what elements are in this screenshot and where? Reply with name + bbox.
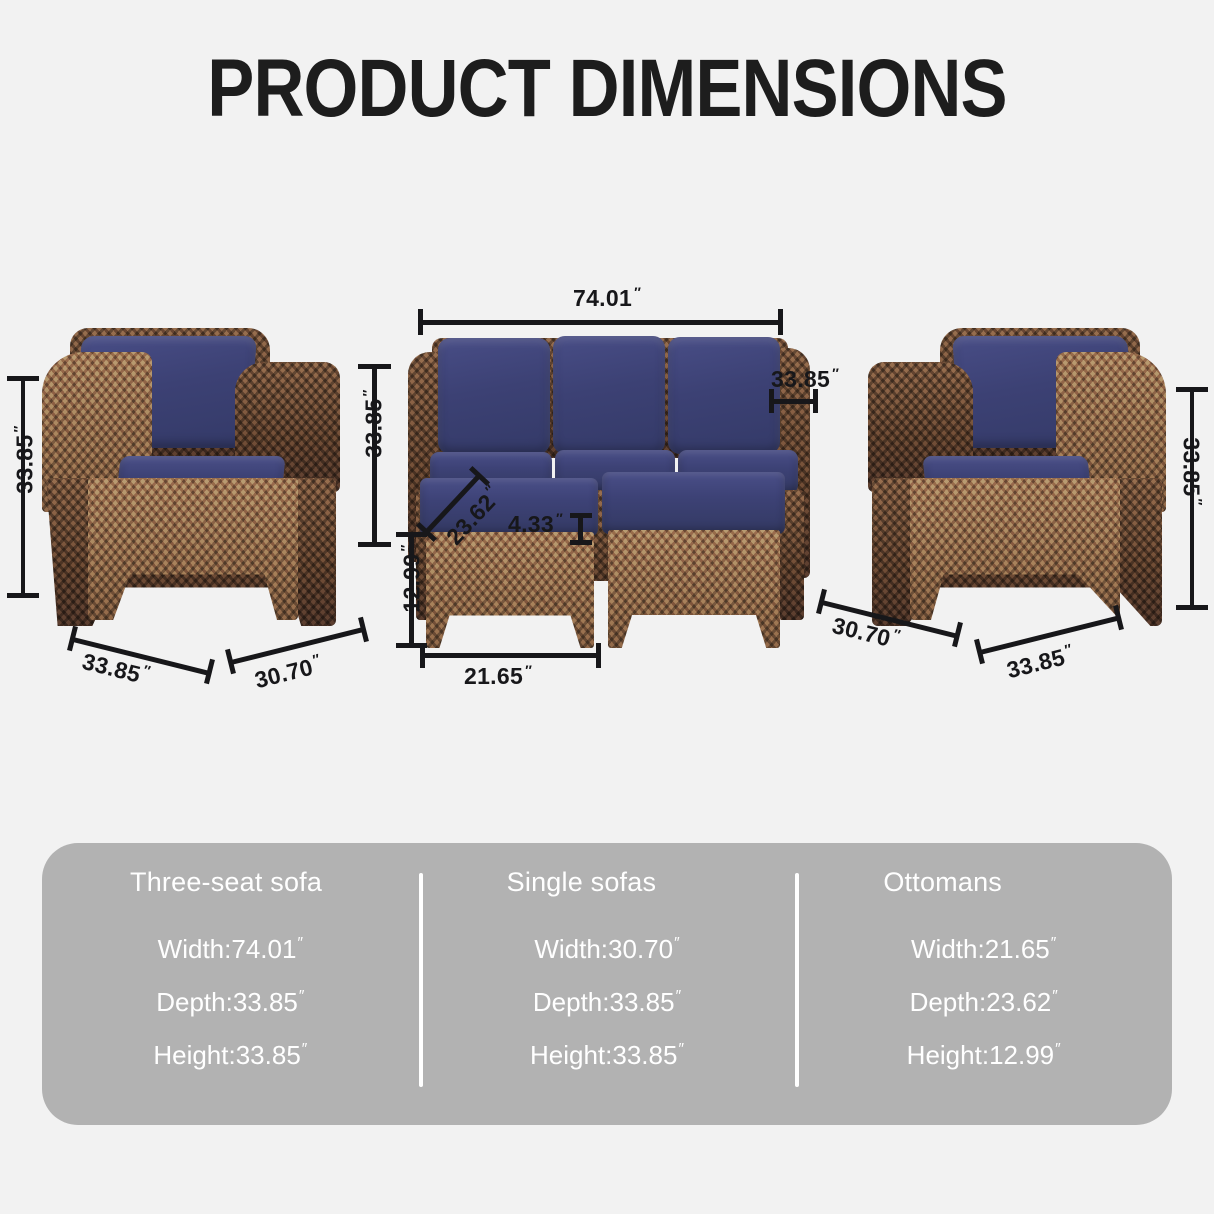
spec-row-height: Height:33.85″ [153, 1040, 307, 1071]
spec-column-single-sofas: Single sofas Width:30.70″ Depth:33.85″ H… [419, 843, 796, 1125]
spec-heading: Single sofas [507, 867, 657, 898]
spec-row-width: Width:74.01″ [158, 934, 303, 965]
sofa-back-cushion-3 [668, 337, 780, 454]
ottoman-left [420, 478, 600, 650]
product-diagram: 33.85″ 33.85″ 30.70″ 74 [0, 250, 1214, 720]
dim-label-left-chair-width: 30.70″ [252, 652, 325, 695]
spec-row-width: Width:21.65″ [911, 934, 1056, 965]
dim-label-sofa-width: 74.01″ [573, 285, 641, 312]
spec-row-height: Height:12.99″ [907, 1040, 1061, 1071]
spec-row-height: Height:33.85″ [530, 1040, 684, 1071]
dim-label-right-chair-height: 33.85″ [1178, 437, 1205, 505]
ottoman-right [602, 472, 787, 650]
spec-row-depth: Depth:33.85″ [156, 987, 304, 1018]
page-title: PRODUCT DIMENSIONS [85, 42, 1129, 136]
dim-label-sofa-depth: 33.85″ [771, 366, 839, 393]
single-sofa-left [30, 328, 360, 628]
chair2-front-skirt [910, 478, 1120, 620]
ottoman-right-base [608, 530, 780, 648]
single-sofa-right [848, 328, 1178, 628]
spec-panel: Three-seat sofa Width:74.01″ Depth:33.85… [42, 843, 1172, 1125]
spec-row-depth: Depth:23.62″ [910, 987, 1058, 1018]
dim-label-ottoman-height: 12.99″ [399, 544, 426, 612]
dim-label-ottoman-width: 21.65″ [464, 663, 532, 690]
ottoman-right-cushion [602, 472, 785, 534]
dim-label-left-chair-height: 33.85″ [12, 425, 39, 493]
spec-column-ottomans: Ottomans Width:21.65″ Depth:23.62″ Heigh… [795, 843, 1172, 1125]
ottoman-left-base [426, 532, 594, 648]
spec-heading: Three-seat sofa [130, 867, 322, 898]
dim-label-sofa-height: 33.85″ [361, 389, 388, 457]
chair-front-skirt [88, 478, 298, 620]
spec-row-depth: Depth:33.85″ [533, 987, 681, 1018]
sofa-back-cushion-2 [553, 336, 665, 454]
spec-column-three-seat-sofa: Three-seat sofa Width:74.01″ Depth:33.85… [42, 843, 419, 1125]
spec-row-width: Width:30.70″ [534, 934, 679, 965]
infographic-page: PRODUCT DIMENSIONS [0, 0, 1214, 1214]
dim-label-right-chair-depth: 33.85″ [1004, 642, 1077, 685]
dim-label-ottoman-cushion: 4.33″ [508, 511, 563, 538]
spec-heading: Ottomans [883, 867, 1002, 898]
sofa-back-cushion-1 [438, 338, 550, 454]
